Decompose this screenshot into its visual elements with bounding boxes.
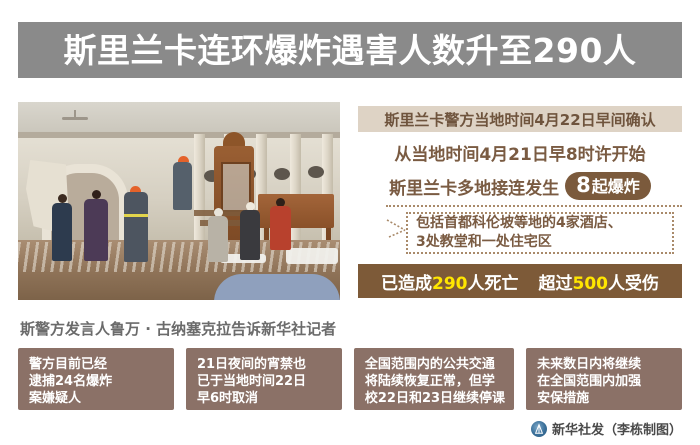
explosion-count-unit: 起爆炸: [592, 179, 640, 195]
photo-firefighter: [124, 192, 148, 262]
credit-text: 新华社发（李栋制图）: [552, 419, 682, 438]
ceiling-fan-icon: [62, 117, 88, 120]
wall-fan-icon: [308, 166, 324, 178]
measure-line: 将陆续恢复正常，但学: [365, 373, 505, 390]
measure-line: 警方目前已经: [29, 356, 165, 373]
deaths-number: 290: [432, 274, 468, 294]
deaths-stat: 已造成290人死亡: [381, 269, 519, 294]
xinhua-logo-icon: [531, 421, 547, 437]
injuries-prefix: 超过: [539, 274, 573, 294]
targets-detail-box: 包括首都科伦坡等地的4家酒店、 3处教堂和一处住宅区: [406, 212, 674, 254]
casualty-bar: 已造成290人死亡 超过500人受伤: [358, 264, 682, 298]
news-photo: [18, 102, 340, 300]
measure-box-curfew: 21日夜间的宵禁也 已于当地时间22日 早6时取消: [186, 348, 342, 410]
explosion-count-number: 8: [576, 175, 591, 196]
dotted-divider: [386, 205, 682, 207]
spokesperson-quote: 斯警方发言人鲁万 · 古纳塞克拉告诉新华社记者: [20, 318, 336, 339]
measure-line: 21日夜间的宵禁也: [197, 356, 333, 373]
photo-column: [290, 134, 301, 246]
measure-box-transport: 全国范围内的公共交通 将陆续恢复正常，但学 校22日和23日继续停课: [354, 348, 514, 410]
photo-police-officer: [52, 203, 72, 261]
photo-covered-body: [286, 248, 338, 264]
callout-pointer-icon: [386, 218, 408, 240]
page-title: 斯里兰卡连环爆炸遇害人数升至290人: [64, 34, 637, 67]
deaths-suffix: 人死亡: [468, 274, 519, 294]
ceiling-fan-rod: [74, 110, 76, 117]
explosion-count-badge: 8 起爆炸: [565, 172, 651, 200]
wall-fan-icon: [274, 168, 290, 180]
targets-detail-line-1: 包括首都科伦坡等地的4家酒店、: [416, 214, 672, 233]
photo-responder: [208, 216, 228, 262]
credit: 新华社发（李栋制图）: [531, 419, 682, 438]
infographic-page: 斯里兰卡连环爆炸遇害人数升至290人: [0, 0, 700, 445]
timeline-line: 从当地时间4月21日早8时许开始: [358, 140, 682, 165]
photo-person-head: [58, 194, 67, 203]
photo-hi-vis-stripe: [124, 214, 148, 217]
measure-line: 在全国范围内加强: [537, 373, 673, 390]
source-bar-text: 斯里兰卡警方当地时间4月22日早间确认: [384, 109, 655, 130]
photo-responder: [270, 206, 291, 250]
measure-box-security: 未来数日内将继续 在全国范围内加强 安保措施: [526, 348, 682, 410]
measure-box-arrests: 警方目前已经 逮捕24名爆炸 案嫌疑人: [18, 348, 174, 410]
measure-line: 案嫌疑人: [29, 390, 165, 407]
injuries-stat: 超过500人受伤: [539, 269, 660, 294]
measure-line: 全国范围内的公共交通: [365, 356, 505, 373]
measure-line: 早6时取消: [197, 390, 333, 407]
measures-box-row: 警方目前已经 逮捕24名爆炸 案嫌疑人 21日夜间的宵禁也 已于当地时间22日 …: [18, 348, 682, 410]
photo-civilian: [84, 199, 108, 261]
measure-line: 安保措施: [537, 390, 673, 407]
targets-detail-line-2: 3处教堂和一处住宅区: [416, 233, 672, 252]
injuries-suffix: 人受伤: [608, 274, 659, 294]
source-bar: 斯里兰卡警方当地时间4月22日早间确认: [358, 106, 682, 132]
photo-responder: [240, 210, 260, 260]
measure-line: 未来数日内将继续: [537, 356, 673, 373]
photo-column: [194, 134, 205, 246]
photo-illustration: [18, 102, 340, 300]
explosion-count-text: 斯里兰卡多地接连发生: [389, 174, 559, 199]
measure-line: 已于当地时间22日: [197, 373, 333, 390]
page-title-bar: 斯里兰卡连环爆炸遇害人数升至290人: [18, 22, 682, 78]
measure-line: 校22日和23日继续停课: [365, 390, 505, 407]
measure-line: 逮捕24名爆炸: [29, 373, 165, 390]
explosion-count-line: 斯里兰卡多地接连发生 8 起爆炸: [358, 172, 682, 200]
photo-firefighter: [173, 162, 192, 210]
deaths-prefix: 已造成: [381, 274, 432, 294]
photo-person-head: [92, 190, 101, 199]
injuries-number: 500: [573, 274, 609, 294]
photo-blue-tarp: [214, 274, 340, 300]
